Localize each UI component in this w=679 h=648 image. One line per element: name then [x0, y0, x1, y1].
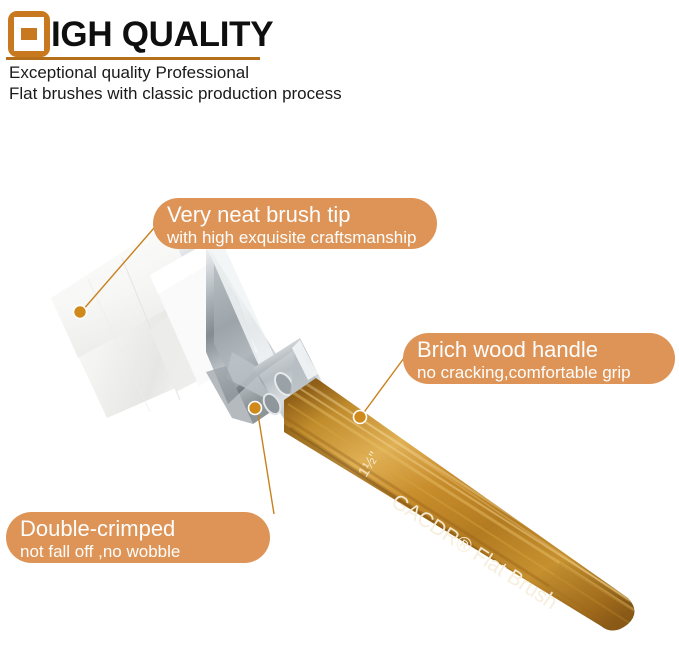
callout-wood-handle: Brich wood handle no cracking,comfortabl…: [403, 333, 675, 384]
page-title: IGH QUALITY: [51, 17, 273, 52]
callout-wood-handle-subtitle: no cracking,comfortable grip: [417, 363, 661, 383]
callout-brush-tip-title: Very neat brush tip: [167, 202, 423, 228]
callout-brush-tip-subtitle: with high exquisite craftsmanship: [167, 228, 423, 248]
headline-underline: [6, 57, 260, 60]
callout-wood-handle-title: Brich wood handle: [417, 337, 661, 363]
product-infographic: 1½" GACDR® Flat Brush IGH QUALITY Except…: [0, 0, 679, 648]
callout-double-crimped-subtitle: not fall off ,no wobble: [20, 542, 256, 562]
brush-handle: 1½" GACDR® Flat Brush: [282, 378, 648, 642]
callout-double-crimped-title: Double-crimped: [20, 516, 256, 542]
h-initial-badge: [8, 11, 50, 57]
callout-brush-tip: Very neat brush tip with high exquisite …: [153, 198, 437, 249]
callout-double-crimped: Double-crimped not fall off ,no wobble: [6, 512, 270, 563]
subheadline: Exceptional quality Professional Flat br…: [9, 62, 649, 104]
header: IGH QUALITY Exceptional quality Professi…: [0, 0, 679, 112]
headline-row: IGH QUALITY: [8, 10, 273, 58]
